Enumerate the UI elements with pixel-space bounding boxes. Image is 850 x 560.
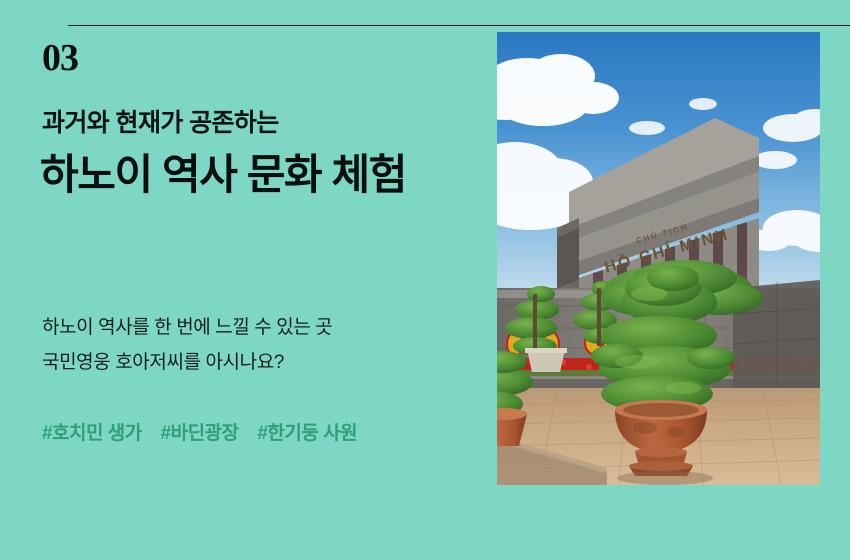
promo-card: 03 과거와 현재가 공존하는 하노이 역사 문화 체험 하노이 역사를 한 번… [0,0,850,560]
description-block: 하노이 역사를 한 번에 느낄 수 있는 곳 국민영웅 호아저씨를 아시나요? [42,310,332,380]
description-line-1: 하노이 역사를 한 번에 느낄 수 있는 곳 [42,310,332,345]
mausoleum-photo: CHỦ TỊCH HỒ CHÍ MINH [497,32,820,485]
page-title: 하노이 역사 문화 체험 [40,150,406,200]
hashtag-item[interactable]: #바딘광장 [161,423,239,444]
eyebrow-text: 과거와 현재가 공존하는 [42,108,279,139]
description-line-2: 국민영웅 호아저씨를 아시나요? [42,345,332,380]
hashtag-item[interactable]: #호치민 생가 [42,423,142,444]
photo-illustration: CHỦ TỊCH HỒ CHÍ MINH [497,32,820,485]
header-divider [68,25,850,26]
section-number: 03 [42,38,78,78]
hashtag-list: #호치민 생가 #바딘광장 #한기둥 사원 [42,418,357,445]
hashtag-item[interactable]: #한기둥 사원 [257,423,357,444]
